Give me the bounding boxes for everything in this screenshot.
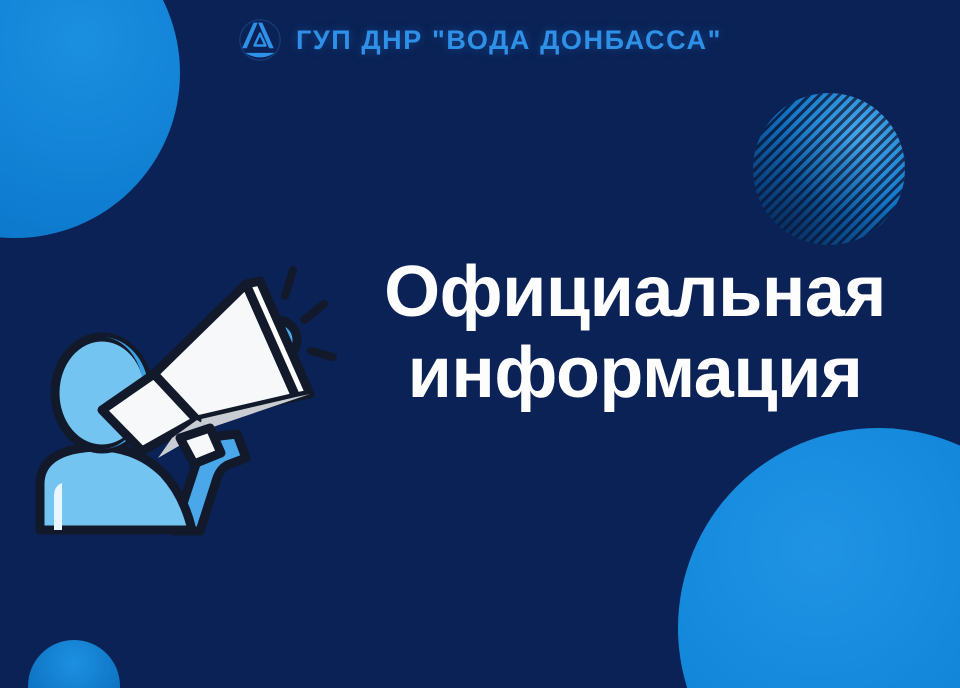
sphere-stripes [753, 93, 905, 245]
decor-circle-bottom-left [28, 640, 120, 688]
decor-striped-sphere [753, 93, 905, 245]
megaphone-icon [24, 252, 344, 542]
person-with-megaphone-illustration [24, 252, 344, 542]
headline-line-1: Официальная [350, 252, 920, 333]
decor-circle-bottom-right [678, 428, 960, 688]
brand-title: ГУП ДНР "ВОДА ДОНБАССА" [296, 25, 722, 56]
brand-header: ГУП ДНР "ВОДА ДОНБАССА" [0, 18, 960, 62]
voda-donbassa-logo-icon [238, 18, 282, 62]
official-information-banner: ГУП ДНР "ВОДА ДОНБАССА" Официальная инфо… [0, 0, 960, 688]
headline: Официальная информация [350, 252, 920, 413]
headline-line-2: информация [350, 333, 920, 414]
sphere-shading [753, 93, 905, 245]
